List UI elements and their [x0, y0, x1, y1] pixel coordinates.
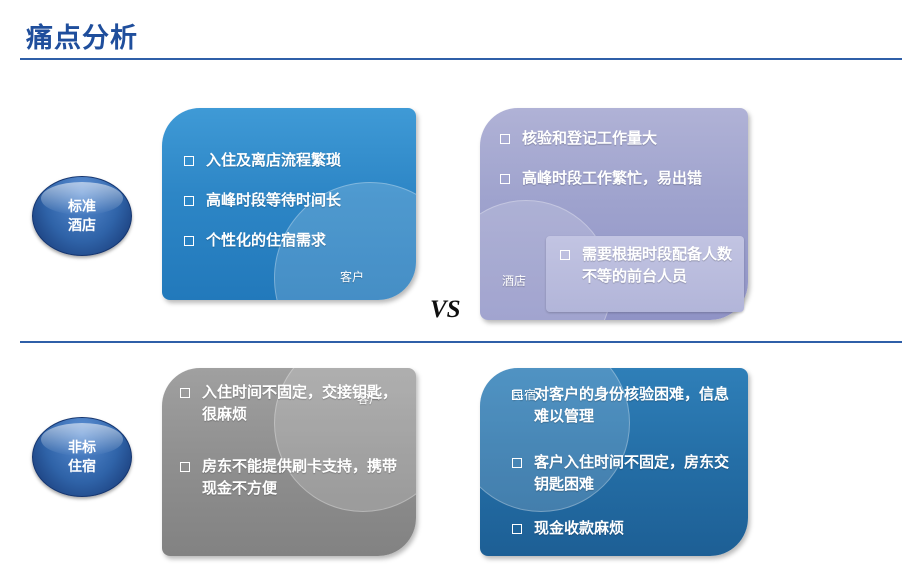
title-divider: [20, 58, 902, 60]
slide-root: 痛点分析 标准 酒店 非标 住宿 客户 入住及离店流程繁琐 高峰时段等待时间长 …: [0, 0, 922, 565]
list-item: 入住及离店流程繁琐: [184, 150, 404, 172]
square-bullet-icon: [500, 174, 510, 184]
bullet-list-standard-hotel: 核验和登记工作量大 高峰时段工作繁忙，易出错: [500, 128, 735, 190]
badge-standard-hotel-line2: 酒店: [68, 216, 96, 235]
list-item-text: 需要根据时段配备人数不等的前台人员: [582, 244, 740, 288]
badge-nonstandard-stay: 非标 住宿: [32, 417, 132, 497]
list-item-text: 对客户的身份核验困难，信息难以管理: [534, 384, 734, 428]
panel-standard-customer-label: 客户: [340, 268, 364, 285]
square-bullet-icon: [512, 458, 522, 468]
square-bullet-icon: [500, 134, 510, 144]
bullet-list-standard-hotel-sub: 需要根据时段配备人数不等的前台人员: [560, 244, 740, 288]
panel-standard-hotel-label: 酒店: [502, 272, 526, 289]
list-item: 对客户的身份核验困难，信息难以管理: [512, 384, 734, 428]
list-item: 个性化的住宿需求: [184, 230, 404, 252]
square-bullet-icon: [512, 524, 522, 534]
square-bullet-icon: [184, 236, 194, 246]
list-item-text: 入住时间不固定，交接钥匙，很麻烦: [202, 382, 398, 426]
list-item: 高峰时段工作繁忙，易出错: [500, 168, 735, 190]
list-item-text: 客户入住时间不固定，房东交钥匙困难: [534, 452, 734, 496]
list-item: 高峰时段等待时间长: [184, 190, 404, 212]
list-item-text: 高峰时段工作繁忙，易出错: [522, 168, 702, 190]
page-title: 痛点分析: [26, 16, 138, 55]
list-item-text: 房东不能提供刷卡支持，携带现金不方便: [202, 456, 398, 500]
list-item-text: 个性化的住宿需求: [206, 230, 326, 252]
list-item: 入住时间不固定，交接钥匙，很麻烦: [180, 382, 398, 426]
list-item: 需要根据时段配备人数不等的前台人员: [560, 244, 740, 288]
list-item: 核验和登记工作量大: [500, 128, 735, 150]
list-item-text: 核验和登记工作量大: [522, 128, 657, 150]
badge-standard-hotel-line1: 标准: [68, 197, 96, 216]
square-bullet-icon: [184, 156, 194, 166]
bullet-list-standard-customer: 入住及离店流程繁琐 高峰时段等待时间长 个性化的住宿需求: [184, 150, 404, 252]
square-bullet-icon: [180, 388, 190, 398]
square-bullet-icon: [180, 462, 190, 472]
list-item: 房东不能提供刷卡支持，携带现金不方便: [180, 456, 398, 500]
badge-nonstandard-stay-line1: 非标: [68, 438, 96, 457]
list-item: 现金收款麻烦: [512, 518, 734, 540]
list-item-text: 高峰时段等待时间长: [206, 190, 341, 212]
middle-divider: [20, 341, 902, 343]
bullet-list-nonstandard-homestay: 对客户的身份核验困难，信息难以管理 客户入住时间不固定，房东交钥匙困难 现金收款…: [512, 384, 734, 540]
square-bullet-icon: [184, 196, 194, 206]
vs-label: VS: [430, 296, 461, 324]
list-item-text: 入住及离店流程繁琐: [206, 150, 341, 172]
bullet-list-nonstandard-customer: 入住时间不固定，交接钥匙，很麻烦 房东不能提供刷卡支持，携带现金不方便: [180, 382, 398, 500]
square-bullet-icon: [512, 390, 522, 400]
badge-standard-hotel: 标准 酒店: [32, 176, 132, 256]
list-item-text: 现金收款麻烦: [534, 518, 624, 540]
square-bullet-icon: [560, 250, 570, 260]
list-item: 客户入住时间不固定，房东交钥匙困难: [512, 452, 734, 496]
badge-nonstandard-stay-line2: 住宿: [68, 457, 96, 476]
